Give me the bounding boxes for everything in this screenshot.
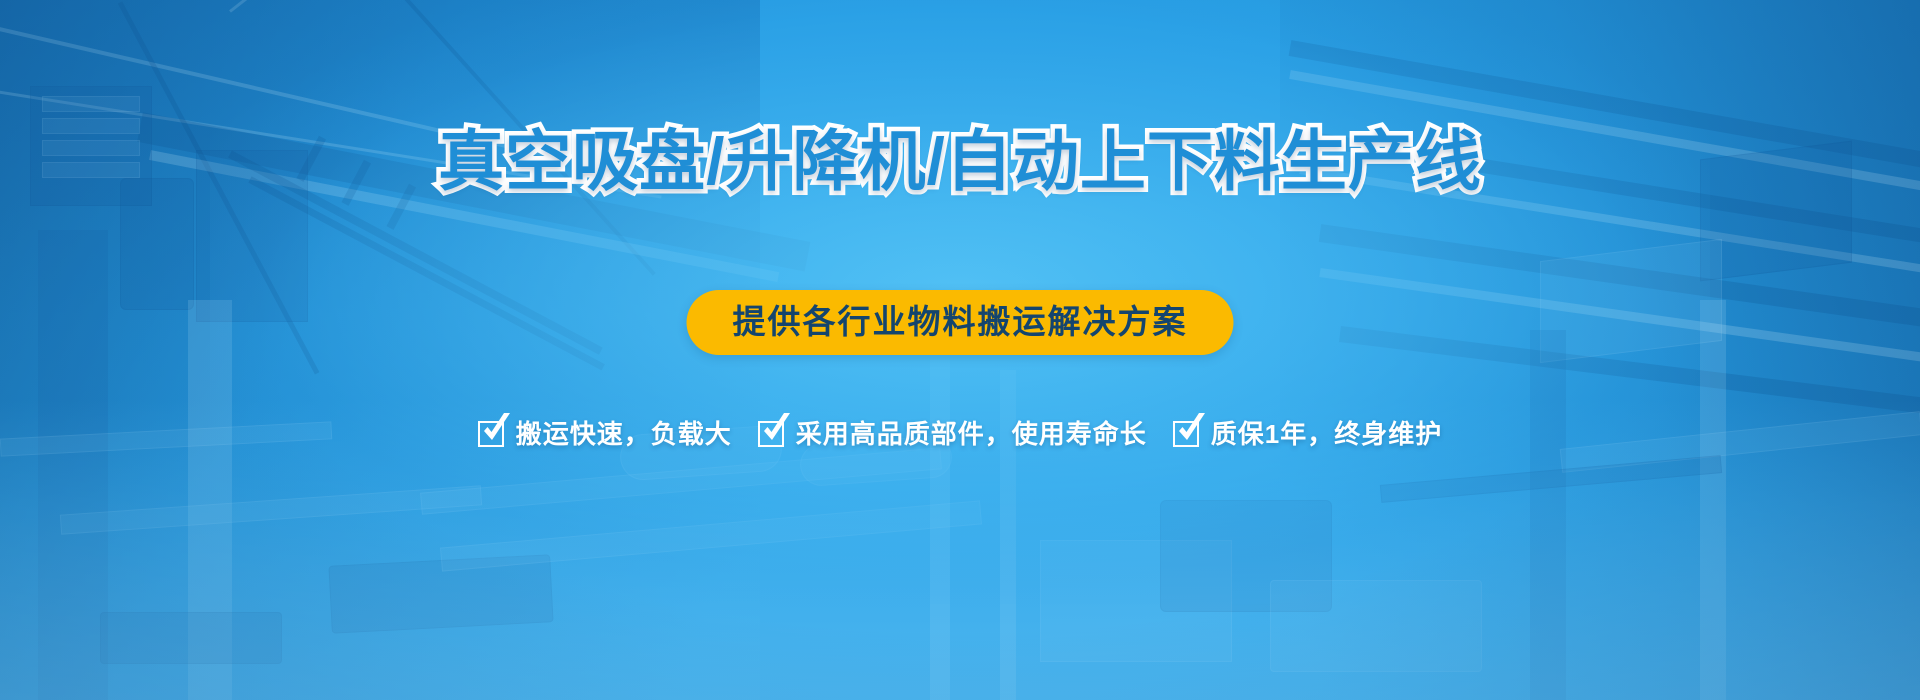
feature-label: 采用高品质部件，使用寿命长 xyxy=(796,421,1147,447)
feature-item-1: 搬运快速，负载大 xyxy=(478,418,732,450)
feature-item-2: 采用高品质部件，使用寿命长 xyxy=(758,418,1147,450)
feature-list: 搬运快速，负载大 采用高品质部件，使用寿命长 质保1 xyxy=(0,418,1920,450)
feature-label: 质保1年，终身维护 xyxy=(1211,421,1442,447)
checkbox-check-icon xyxy=(1173,418,1205,450)
banner-subtitle-pill: 提供各行业物料搬运解决方案 xyxy=(687,290,1234,355)
checkbox-check-icon xyxy=(758,418,790,450)
feature-item-3: 质保1年，终身维护 xyxy=(1173,418,1442,450)
checkbox-check-icon xyxy=(478,418,510,450)
banner-content: 真空吸盘/升降机/自动上下料生产线 提供各行业物料搬运解决方案 搬运快速，负载大 xyxy=(0,0,1920,700)
hero-banner: 真空吸盘/升降机/自动上下料生产线 提供各行业物料搬运解决方案 搬运快速，负载大 xyxy=(0,0,1920,700)
banner-headline: 真空吸盘/升降机/自动上下料生产线 xyxy=(0,128,1920,194)
feature-label: 搬运快速，负载大 xyxy=(516,421,732,447)
